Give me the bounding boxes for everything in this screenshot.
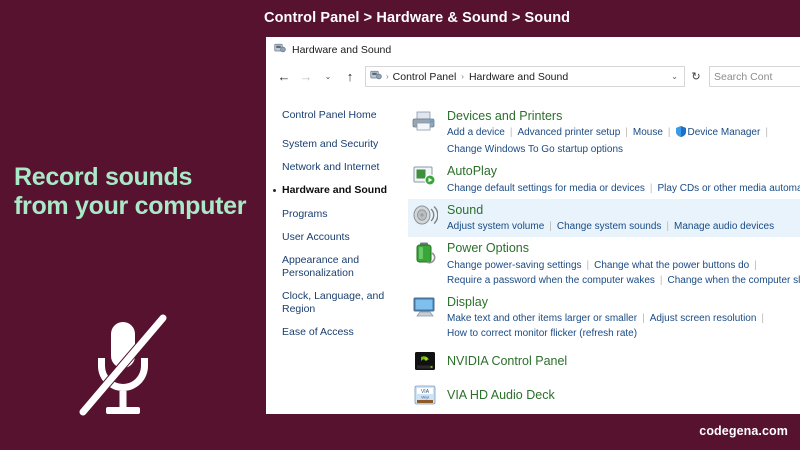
svg-text:Vinyl: Vinyl [421, 395, 429, 399]
category-body: Sound Adjust system volume|Change system… [447, 202, 774, 234]
category-links: Add a device|Advanced printer setup|Mous… [447, 125, 773, 157]
link-separator: | [756, 313, 769, 324]
printer-icon [412, 108, 438, 134]
category-title[interactable]: Power Options [447, 241, 800, 255]
promo-title-line1: Record sounds [14, 163, 260, 192]
link-separator: | [655, 275, 668, 286]
microphone-muted-icon [68, 308, 178, 420]
breadcrumb-item-control-panel[interactable]: Control Panel [393, 71, 457, 83]
battery-icon [412, 240, 438, 266]
link-manage-audio-devices[interactable]: Manage audio devices [674, 221, 774, 232]
category-links: Change default settings for media or dev… [447, 181, 800, 196]
window-title: Hardware and Sound [292, 44, 391, 56]
link-require-a-password-when-the-computer-wakes[interactable]: Require a password when the computer wak… [447, 275, 655, 286]
via-audio-icon: VIA Vinyl [412, 382, 438, 408]
link-change-power-saving-settings[interactable]: Change power-saving settings [447, 260, 582, 271]
svg-text:VIA: VIA [421, 389, 430, 395]
category-autoplay[interactable]: AutoPlay Change default settings for med… [408, 160, 800, 198]
sidebar-item-clock-language-and-region[interactable]: Clock, Language, and Region [282, 290, 408, 316]
link-separator: | [663, 127, 676, 138]
sidebar-item-control-panel-home[interactable]: Control Panel Home [282, 109, 408, 122]
link-change-windows-to-go-startup-options[interactable]: Change Windows To Go startup options [447, 142, 773, 157]
sidebar: Control Panel Home System and Security N… [266, 91, 408, 414]
control-panel-window: Hardware and Sound ← → ⌄ ↑ › Control Pan… [266, 37, 800, 414]
refresh-icon[interactable]: ↻ [687, 66, 705, 87]
sidebar-item-system-and-security[interactable]: System and Security [282, 138, 408, 151]
breadcrumb-separator: › [461, 72, 464, 81]
content-area: Devices and Printers Add a device|Advanc… [408, 91, 800, 414]
link-change-default-settings-for-media-or-devices[interactable]: Change default settings for media or dev… [447, 183, 645, 194]
link-advanced-printer-setup[interactable]: Advanced printer setup [517, 127, 620, 138]
link-separator: | [749, 260, 762, 271]
category-body: AutoPlay Change default settings for med… [447, 163, 800, 195]
category-body: Power Options Change power-saving settin… [447, 240, 800, 287]
forward-button[interactable]: → [296, 67, 316, 87]
monitor-icon [412, 294, 438, 320]
breadcrumb: Control Panel › Hardware and Sound [393, 71, 666, 83]
promo-title-line2: from your computer [14, 192, 260, 221]
sidebar-item-hardware-and-sound[interactable]: Hardware and Sound [282, 184, 408, 197]
brand-watermark: codegena.com [699, 424, 788, 438]
control-panel-icon [274, 42, 286, 57]
category-power-options[interactable]: Power Options Change power-saving settin… [408, 237, 800, 290]
link-play-cds-or-other-media-automatically[interactable]: Play CDs or other media automatically [658, 183, 800, 194]
item-title[interactable]: NVIDIA Control Panel [447, 354, 567, 368]
category-display[interactable]: Display Make text and other items larger… [408, 291, 800, 344]
sidebar-item-user-accounts[interactable]: User Accounts [282, 231, 408, 244]
window-titlebar: Hardware and Sound [266, 37, 800, 62]
link-change-what-the-power-buttons-do[interactable]: Change what the power buttons do [594, 260, 749, 271]
category-title[interactable]: Display [447, 295, 769, 309]
nvidia-icon [412, 348, 438, 374]
link-separator: | [544, 221, 557, 232]
shield-icon [676, 126, 686, 142]
item-nvidia-control-panel[interactable]: NVIDIA Control Panel [408, 344, 800, 378]
category-body: Devices and Printers Add a device|Advanc… [447, 108, 773, 157]
item-via-hd-audio-deck[interactable]: VIA Vinyl VIA HD Audio Deck [408, 378, 800, 412]
link-separator: | [645, 183, 658, 194]
speaker-icon [412, 202, 438, 228]
link-separator: | [620, 127, 633, 138]
window-body: Control Panel Home System and Security N… [266, 91, 800, 414]
link-device-manager[interactable]: Device Manager [688, 127, 761, 138]
back-button[interactable]: ← [274, 67, 294, 87]
link-how-to-correct-monitor-flicker[interactable]: How to correct monitor flicker (refresh … [447, 326, 769, 341]
link-separator: | [505, 127, 518, 138]
sidebar-item-programs[interactable]: Programs [282, 208, 408, 221]
link-change-system-sounds[interactable]: Change system sounds [557, 221, 662, 232]
breadcrumb-item-hardware-and-sound[interactable]: Hardware and Sound [469, 71, 568, 83]
up-button[interactable]: ↑ [340, 67, 360, 87]
promo-title: Record sounds from your computer [14, 163, 260, 221]
link-adjust-screen-resolution[interactable]: Adjust screen resolution [650, 313, 757, 324]
category-title[interactable]: Devices and Printers [447, 109, 773, 123]
link-adjust-system-volume[interactable]: Adjust system volume [447, 221, 544, 232]
control-panel-icon [370, 69, 382, 84]
item-title[interactable]: VIA HD Audio Deck [447, 388, 555, 402]
category-sound[interactable]: Sound Adjust system volume|Change system… [408, 199, 800, 237]
address-bar: ← → ⌄ ↑ › Control Panel › Hardware and S… [266, 62, 800, 91]
category-links: Make text and other items larger or smal… [447, 311, 769, 341]
link-separator: | [637, 313, 650, 324]
link-add-a-device[interactable]: Add a device [447, 127, 505, 138]
category-body: Display Make text and other items larger… [447, 294, 769, 341]
category-devices-and-printers[interactable]: Devices and Printers Add a device|Advanc… [408, 105, 800, 160]
breadcrumb-headline: Control Panel > Hardware & Sound > Sound [264, 10, 570, 26]
address-field[interactable]: › Control Panel › Hardware and Sound ⌄ [365, 66, 685, 87]
sidebar-item-appearance-and-personalization[interactable]: Appearance and Personalization [282, 254, 408, 280]
sidebar-item-network-and-internet[interactable]: Network and Internet [282, 161, 408, 174]
breadcrumb-separator: › [386, 72, 389, 81]
chevron-down-icon[interactable]: ⌄ [669, 72, 680, 81]
promo-panel: Record sounds from your computer [0, 0, 264, 450]
category-links: Adjust system volume|Change system sound… [447, 219, 774, 234]
category-links: Change power-saving settings|Change what… [447, 258, 800, 288]
link-separator: | [582, 260, 595, 271]
link-make-text-and-other-items-larger-or-smaller[interactable]: Make text and other items larger or smal… [447, 313, 637, 324]
search-input[interactable]: Search Cont [709, 66, 800, 87]
recent-locations-icon[interactable]: ⌄ [318, 67, 338, 87]
autoplay-icon [412, 163, 438, 189]
link-separator: | [760, 127, 773, 138]
link-mouse[interactable]: Mouse [633, 127, 663, 138]
link-separator: | [661, 221, 674, 232]
category-title[interactable]: Sound [447, 203, 774, 217]
link-change-when-the-computer-sleeps[interactable]: Change when the computer sleeps [668, 275, 800, 286]
sidebar-item-ease-of-access[interactable]: Ease of Access [282, 326, 408, 339]
category-title[interactable]: AutoPlay [447, 164, 800, 178]
category-links-row2: Require a password when the computer wak… [447, 273, 800, 288]
